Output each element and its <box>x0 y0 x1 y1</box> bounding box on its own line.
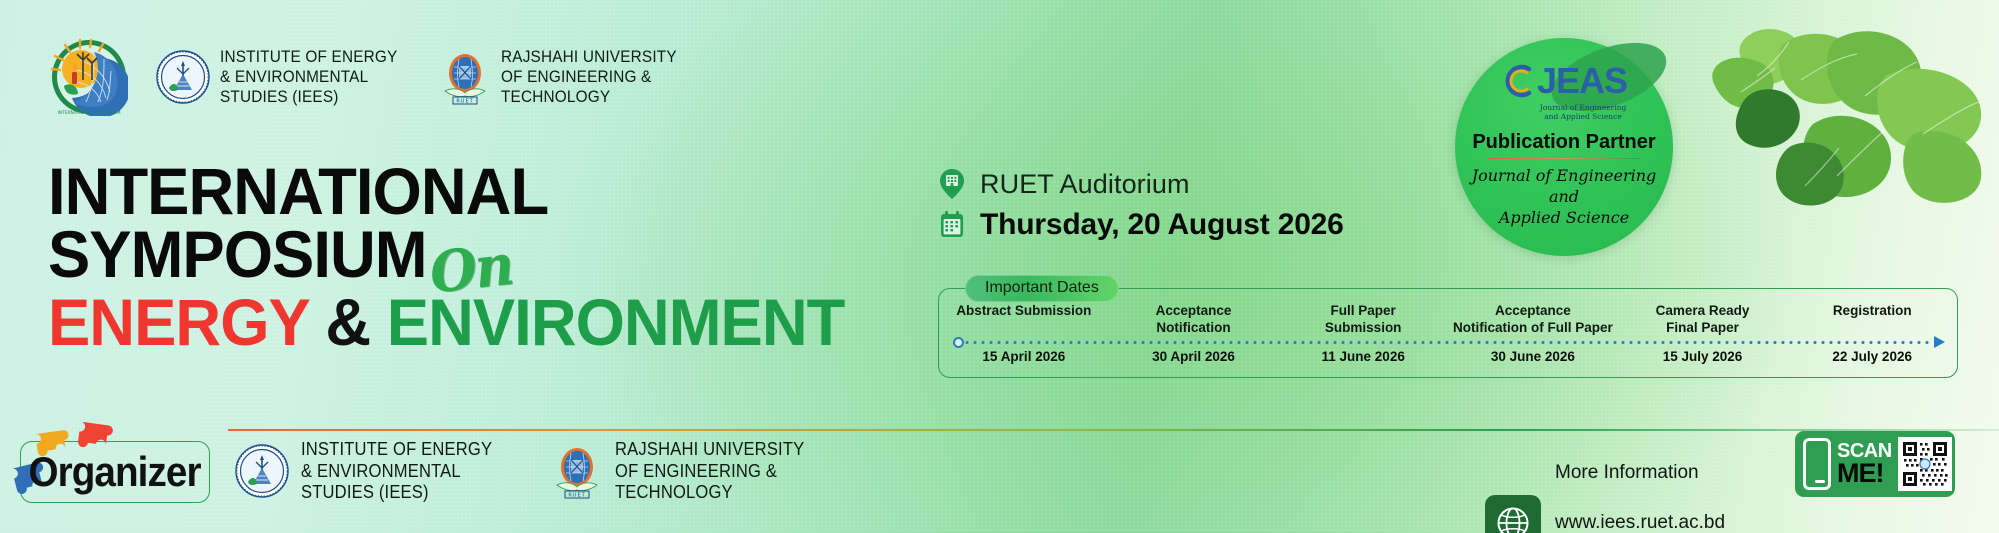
header-logo-iees-label: INSTITUTE OF ENERGY & ENVIRONMENTAL STUD… <box>220 47 397 107</box>
header-logo-iees: INSTITUTE OF ENERGY & ENVIRONMENTAL STUD… <box>156 47 411 107</box>
event-info: RUET Auditorium Thursday, 20 August 2026 <box>938 168 1968 250</box>
svg-text:RUET: RUET <box>568 493 585 499</box>
jeas-logo: JEAS <box>1501 60 1627 102</box>
location-pin-icon <box>938 168 966 200</box>
qr-code-icon[interactable] <box>1898 437 1952 491</box>
footer-logo-ruet-label: RAJSHAHI UNIVERSITY OF ENGINEERING & TEC… <box>615 439 804 504</box>
important-dates-timeline: Important Dates Abstract Submission 15 A… <box>938 288 1958 378</box>
calendar-icon <box>938 209 966 241</box>
footer-logo-ruet: RUET RAJSHAHI UNIVERSITY OF ENGINEERING … <box>551 439 821 504</box>
milestone-date: 30 April 2026 <box>1152 349 1235 364</box>
footer-logo-iees-label: INSTITUTE OF ENERGY & ENVIRONMENTAL STUD… <box>301 439 492 504</box>
header-logo-ruet-label: RAJSHAHI UNIVERSITY OF ENGINEERING & TEC… <box>501 47 677 107</box>
milestone-date: 11 June 2026 <box>1322 349 1405 364</box>
title-line-1: INTERNATIONAL <box>48 160 844 223</box>
title-energy-word: ENERGY <box>48 285 309 359</box>
footer-logo-iees: INSTITUTE OF ENERGY & ENVIRONMENTAL STUD… <box>235 439 509 504</box>
website-url[interactable]: www.iees.ruet.ac.bd <box>1555 510 1762 533</box>
globe-icon <box>1496 506 1530 533</box>
venue-row: RUET Auditorium <box>938 168 1968 200</box>
more-information: More Information www.iees.ruet.ac.bd dir… <box>1485 435 1762 533</box>
footer-divider <box>228 429 1999 431</box>
footer-organizer-logos: INSTITUTE OF ENERGY & ENVIRONMENTAL STUD… <box>235 439 821 504</box>
milestone-date: 22 July 2026 <box>1832 349 1912 364</box>
header-logo-ruet: RUET RAJSHAHI UNIVERSITY OF ENGINEERING … <box>439 47 690 107</box>
svg-text:RUET: RUET <box>456 98 473 104</box>
svg-text:INTERNATIONAL SYMPOSIUM: INTERNATIONAL SYMPOSIUM <box>57 110 120 116</box>
more-information-text: More Information www.iees.ruet.ac.bd dir… <box>1555 435 1762 533</box>
timeline-milestone: Acceptance Notification 30 April 2026 <box>1109 303 1279 373</box>
header-logo-symposium: INTERNATIONAL SYMPOSIUM <box>50 38 128 116</box>
me-word: ME! <box>1837 461 1892 487</box>
milestone-label: Camera Ready Final Paper <box>1656 303 1750 337</box>
timeline-milestone: Abstract Submission 15 April 2026 <box>939 303 1109 373</box>
more-information-heading: More Information <box>1555 460 1762 485</box>
title-line-2: SYMPOSIUM On <box>48 223 844 286</box>
milestone-label: Acceptance Notification <box>1156 303 1232 337</box>
jeas-wordmark: JEAS <box>1537 60 1627 102</box>
milestone-date: 15 April 2026 <box>982 349 1065 364</box>
scan-me-text: SCAN ME! <box>1837 442 1892 487</box>
important-dates-pill: Important Dates <box>965 275 1119 302</box>
timeline-milestone: Acceptance Notification of Full Paper 30… <box>1448 303 1618 373</box>
organizer-box: Organizer <box>20 441 210 503</box>
footer-bar: Organizer <box>0 413 1999 533</box>
symposium-globe-emblem: INTERNATIONAL SYMPOSIUM <box>50 38 128 116</box>
ruet-crest-emblem: RUET <box>439 49 491 105</box>
publication-partner-journal-name: Journal of Engineering and Applied Scien… <box>1455 166 1673 228</box>
iees-crest-emblem <box>235 444 289 498</box>
milestone-label: Full Paper Submission <box>1325 303 1402 337</box>
page-title: INTERNATIONAL SYMPOSIUM On ENERGY & ENVI… <box>48 160 878 354</box>
title-environment-word: ENVIRONMENT <box>387 285 845 359</box>
milestone-label: Acceptance Notification of Full Paper <box>1453 303 1613 337</box>
organizer-label: Organizer <box>29 448 201 496</box>
title-ampersand: & <box>309 285 387 359</box>
event-date: Thursday, 20 August 2026 <box>980 208 1344 242</box>
timeline-milestone: Registration 22 July 2026 <box>1787 303 1957 373</box>
timeline-milestones: Abstract Submission 15 April 2026 Accept… <box>939 303 1957 373</box>
venue-name: RUET Auditorium <box>980 169 1190 200</box>
date-row: Thursday, 20 August 2026 <box>938 208 1968 242</box>
milestone-date: 30 June 2026 <box>1491 349 1575 364</box>
publication-partner-divider <box>1489 158 1639 160</box>
title-symposium-word: SYMPOSIUM <box>48 223 427 286</box>
iees-crest-emblem <box>156 50 210 104</box>
header-logo-row: INTERNATIONAL SYMPOSIUM <box>50 38 690 116</box>
timeline-milestone: Full Paper Submission 11 June 2026 <box>1278 303 1448 373</box>
title-line-3: ENERGY & ENVIRONMENT <box>48 291 844 354</box>
milestone-label: Abstract Submission <box>956 303 1091 337</box>
jeas-arc-icon <box>1501 62 1535 100</box>
milestone-date: 15 July 2026 <box>1663 349 1743 364</box>
publication-partner-badge: JEAS Journal of Engineering and Applied … <box>1455 38 1673 256</box>
ruet-crest-emblem: RUET <box>551 443 603 499</box>
jeas-subtitle: Journal of Engineering and Applied Scien… <box>1540 103 1627 122</box>
symposium-banner: INTERNATIONAL SYMPOSIUM <box>0 0 1999 533</box>
publication-partner-title: Publication Partner <box>1472 131 1655 154</box>
milestone-label: Registration <box>1833 303 1912 337</box>
scan-me-badge[interactable]: SCAN ME! <box>1795 431 1955 497</box>
globe-icon-box <box>1485 495 1541 533</box>
phone-icon <box>1803 438 1831 490</box>
timeline-milestone: Camera Ready Final Paper 15 July 2026 <box>1618 303 1788 373</box>
